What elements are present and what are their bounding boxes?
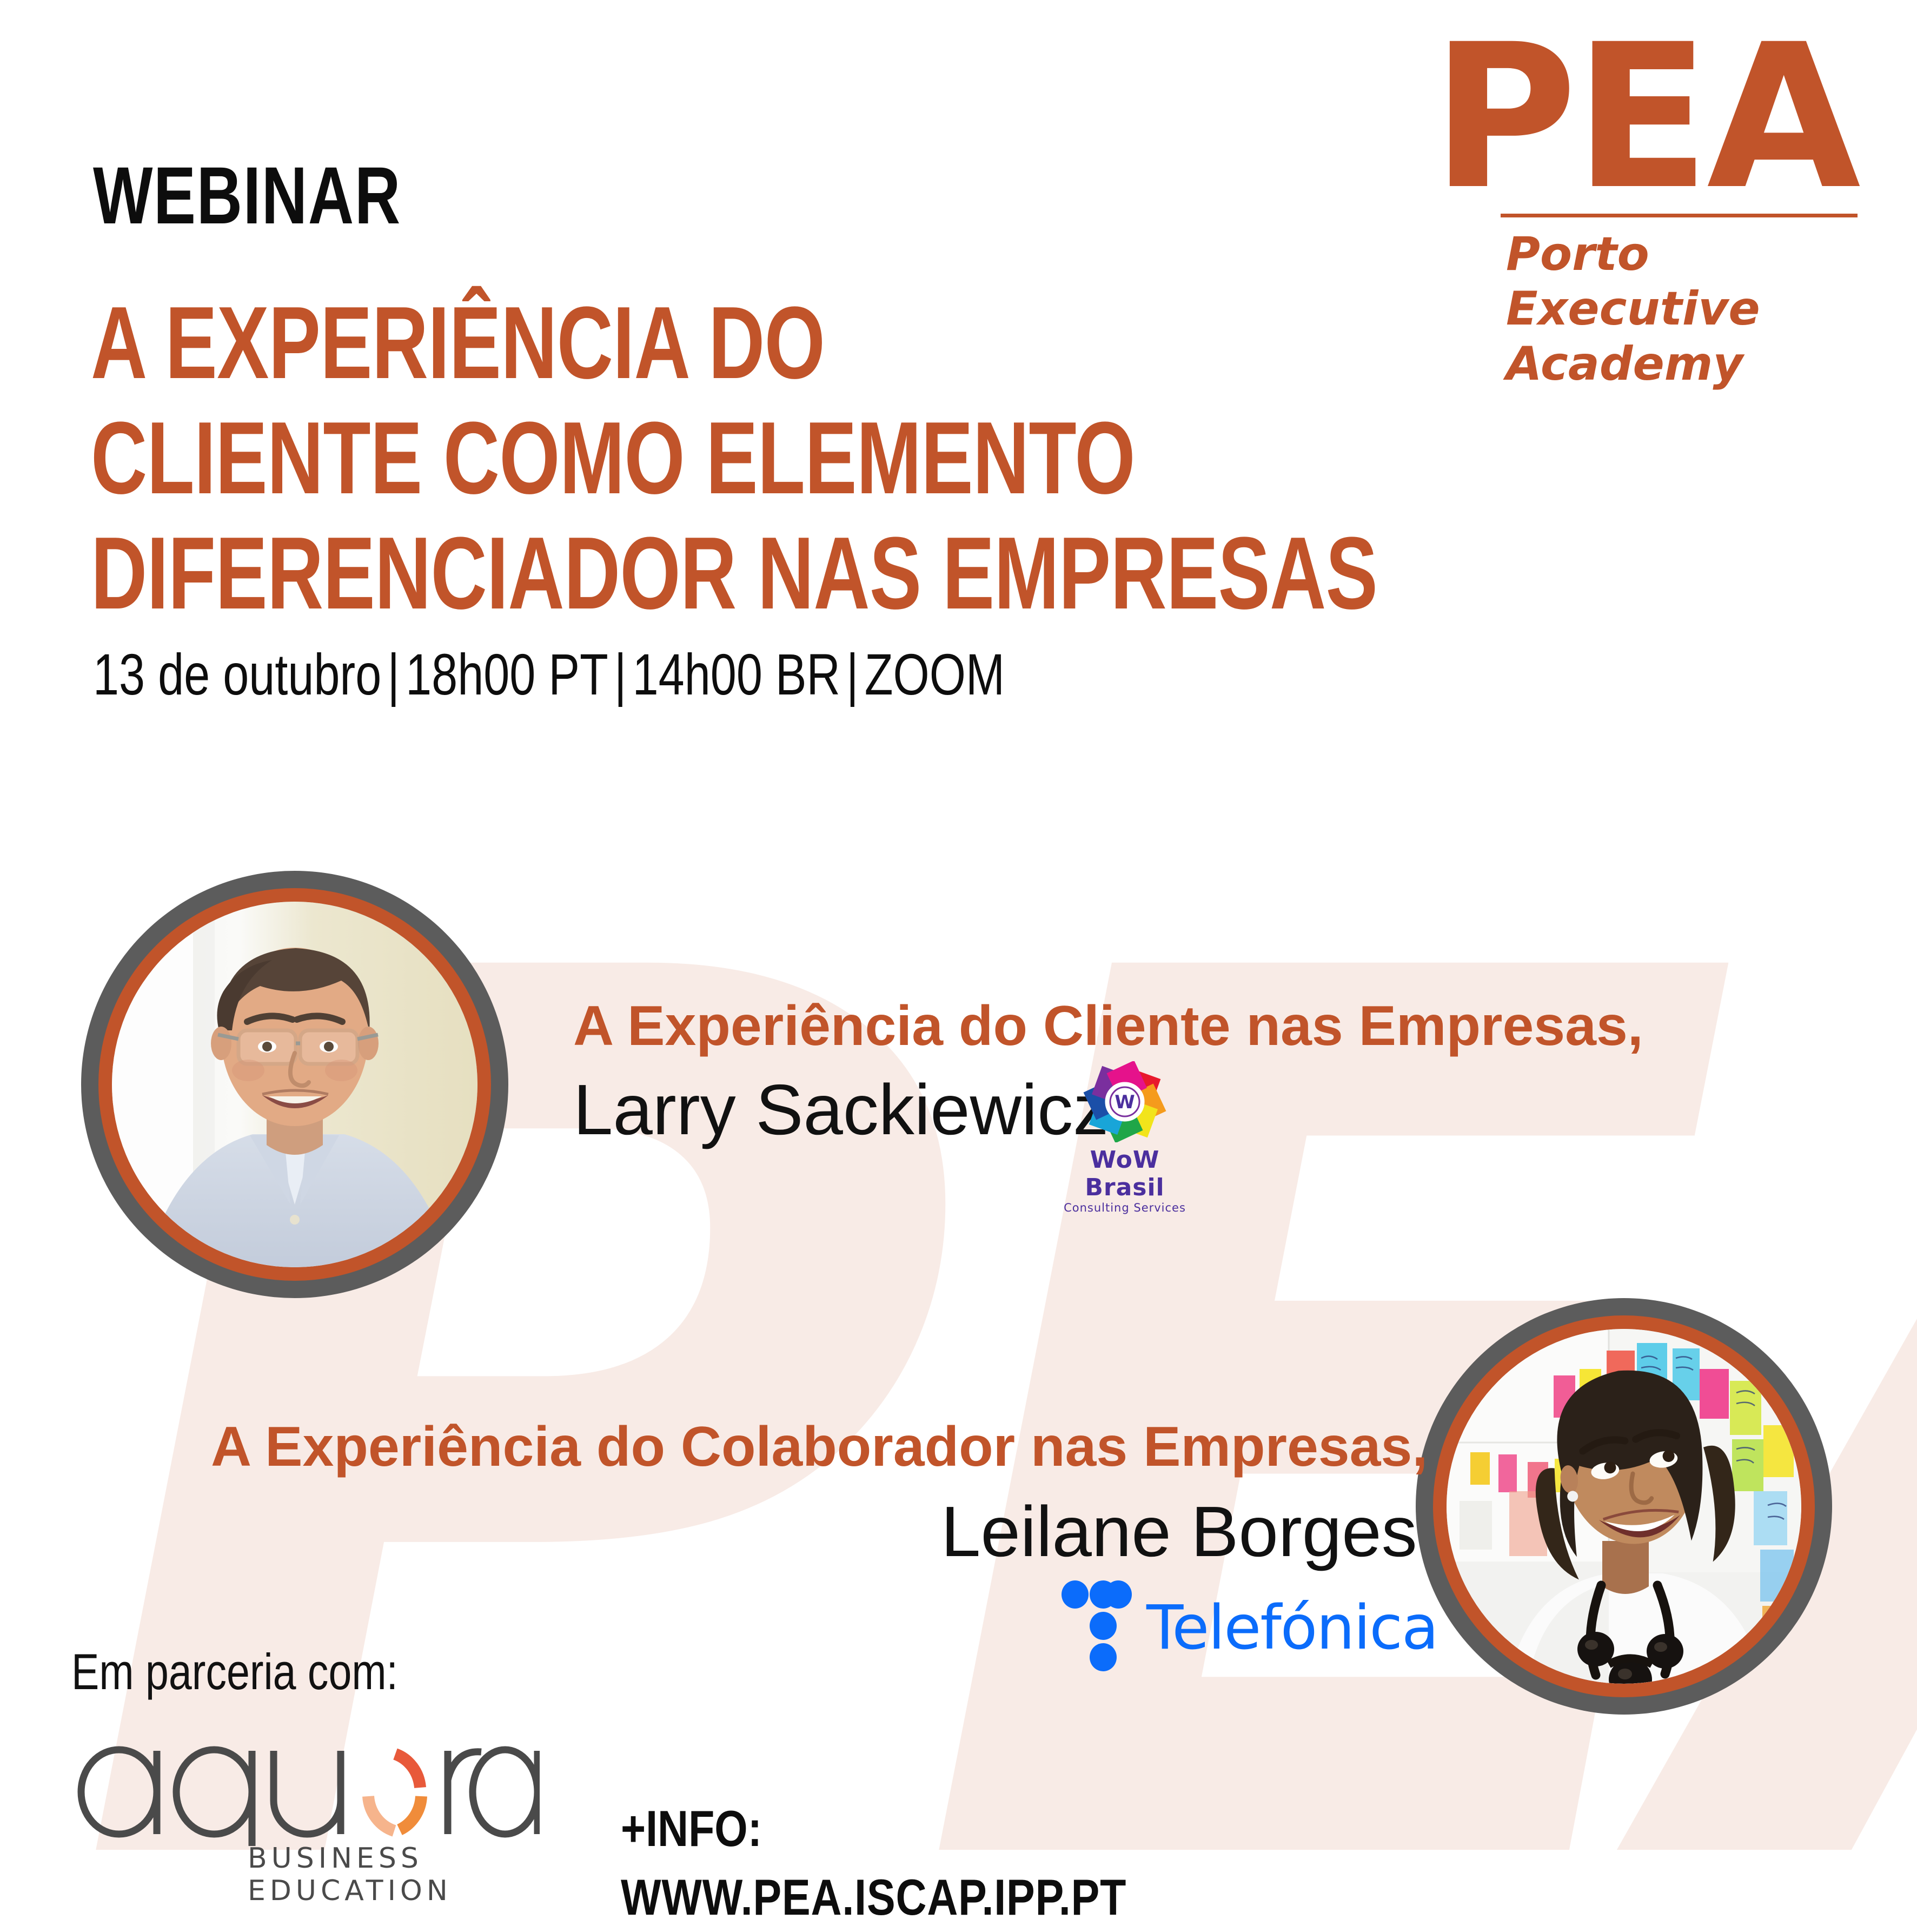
avatar-ring-orange (98, 888, 491, 1281)
aquora-wordmark (69, 1728, 540, 1847)
pea-logo: PEA Porto Executive Academy (1425, 30, 1858, 392)
event-date: 13 de outubro (93, 641, 381, 707)
pea-logo-line-3: Academy (1506, 337, 1858, 392)
aquora-logo: BUSINESS EDUCATION (69, 1728, 540, 1907)
pea-logo-line-1: Porto (1506, 227, 1858, 282)
info-block: +INFO: WWW.PEA.ISCAP.IPP.PT (621, 1795, 1126, 1932)
title-line-2: CLIENTE COMO ELEMENTO (91, 401, 1377, 516)
wow-brasil-logo: W WoW Brasil Consulting Services (1060, 1061, 1190, 1214)
avatar-ring-orange (1433, 1315, 1815, 1697)
telefonica-logo: Telefónica (1061, 1580, 1438, 1676)
telefonica-wordmark: Telefónica (1146, 1593, 1438, 1663)
avatar-leilane-borges (1416, 1298, 1832, 1715)
info-label: +INFO: (621, 1795, 1126, 1863)
svg-text:W: W (1115, 1091, 1135, 1113)
pea-logo-line-2: Executive (1506, 282, 1858, 336)
wow-brasil-name: WoW Brasil (1060, 1146, 1190, 1201)
webinar-kicker: WEBINAR (93, 155, 401, 236)
event-time-pt: 18h00 PT (406, 641, 608, 707)
wow-brasil-tagline: Consulting Services (1060, 1201, 1190, 1214)
meta-separator-3: | (840, 641, 865, 707)
speaker-1-topic: A Experiência do Cliente nas Empresas, (573, 994, 1643, 1058)
title-line-1: A EXPERIÊNCIA DO (91, 286, 1377, 401)
event-details: 13 de outubro|18h00 PT|14h00 BR|ZOOM (93, 640, 1005, 708)
event-time-br: 14h00 BR (633, 641, 840, 707)
speaker-1-name: Larry Sackiewicz (573, 1069, 1109, 1150)
partner-label: Em parceria com: (71, 1643, 398, 1701)
meta-separator-2: | (608, 641, 633, 707)
wow-brasil-mark: W (1060, 1061, 1190, 1142)
aquora-tagline: BUSINESS EDUCATION (248, 1842, 540, 1907)
portrait-larry-sackiewicz (112, 902, 477, 1267)
info-url[interactable]: WWW.PEA.ISCAP.IPP.PT (621, 1863, 1126, 1932)
avatar-larry-sackiewicz (81, 871, 508, 1298)
title-line-3: DIFERENCIADOR NAS EMPRESAS (91, 516, 1377, 631)
portrait-leilane-borges (1447, 1329, 1801, 1684)
page-title: A EXPERIÊNCIA DO CLIENTE COMO ELEMENTO D… (91, 286, 1377, 631)
event-platform: ZOOM (865, 641, 1005, 707)
speaker-2-name: Leilane Borges (941, 1491, 1417, 1572)
speaker-2-topic: A Experiência do Colaborador nas Empresa… (211, 1415, 1428, 1479)
pea-logo-mark: PEA (1425, 30, 1858, 205)
telefonica-dots-mark (1061, 1580, 1132, 1676)
meta-separator-1: | (381, 641, 406, 707)
